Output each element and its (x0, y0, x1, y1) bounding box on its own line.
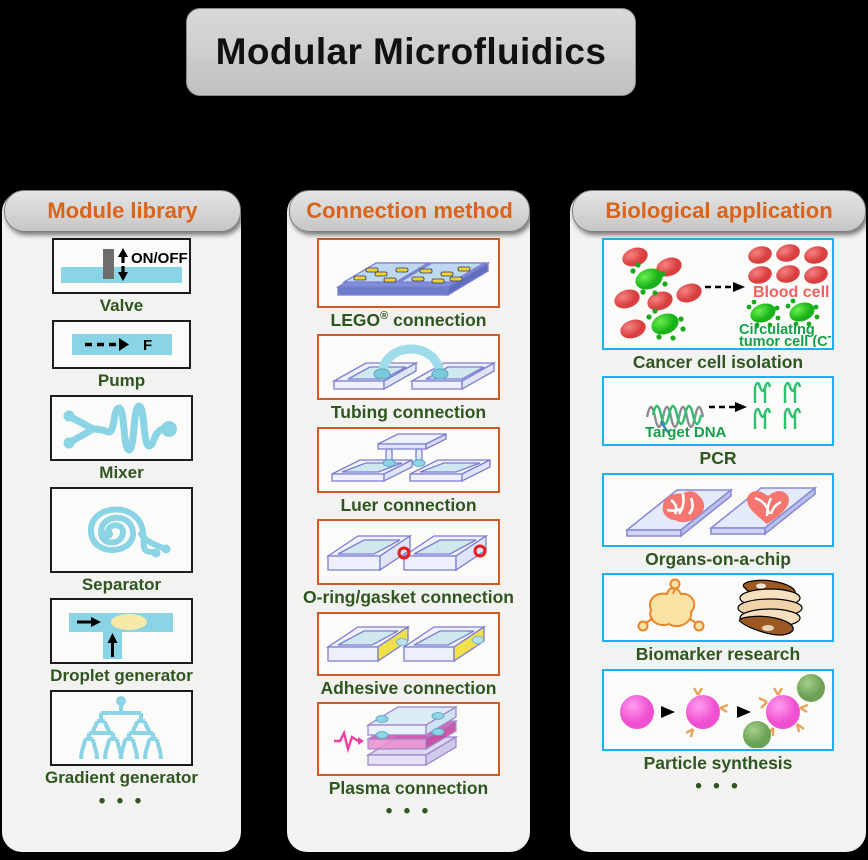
module-label-valve: Valve (100, 297, 144, 315)
bio-label-biomarker-research: Biomarker research (636, 645, 800, 663)
connection-method-ellipsis: • • • (386, 801, 432, 823)
bio-item-particle-synthesis[interactable]: Particle synthesis (570, 669, 866, 777)
biological-application-ellipsis: • • • (695, 776, 741, 798)
oring-gasket-connection-icon (317, 519, 500, 585)
module-library-ellipsis: • • • (99, 791, 145, 813)
module-item-gradient-generator[interactable]: Gradient generator (2, 690, 241, 792)
luer-connection-icon (317, 427, 500, 493)
ctc-label-line2: tumor cell (CTC) (739, 334, 831, 347)
column-header-label: Module library (47, 198, 197, 224)
adhesive-connection-icon (317, 612, 500, 676)
pump-icon: F (52, 320, 191, 369)
module-item-separator[interactable]: Separator (2, 487, 241, 599)
module-label-droplet-generator: Droplet generator (50, 667, 193, 685)
cancer-cell-isolation-icon: Blood cell (602, 238, 834, 350)
lego-label-main: LEGO (331, 310, 381, 330)
mixer-icon (50, 395, 193, 461)
column-header-biological-application: Biological application (572, 190, 866, 232)
droplet-generator-icon (50, 598, 193, 664)
bio-item-organs-on-chip[interactable]: Organs-on-a-chip (570, 473, 866, 573)
valve-icon: ON/OFF (52, 238, 191, 294)
gradient-generator-icon (50, 690, 193, 766)
module-item-pump[interactable]: F Pump (2, 320, 241, 395)
page-title-pill: Modular Microfluidics (186, 8, 636, 96)
column-connection-method: Connection method (287, 192, 530, 852)
connection-item-oring[interactable]: O-ring/gasket connection (287, 519, 530, 611)
connection-item-plasma[interactable]: Plasma connection (287, 702, 530, 802)
module-item-valve[interactable]: ON/OFF Valve (2, 238, 241, 320)
column-header-label: Biological application (605, 198, 832, 224)
connection-item-lego[interactable]: LEGO® connection (287, 238, 530, 334)
connection-label-lego: LEGO® connection (331, 311, 487, 329)
biomarker-research-icon (602, 573, 834, 642)
connection-label-oring: O-ring/gasket connection (303, 588, 514, 606)
organs-on-chip-icon (602, 473, 834, 547)
column-header-connection-method: Connection method (289, 190, 530, 232)
bio-item-cancer-cell-isolation[interactable]: Blood cell (570, 238, 866, 376)
connection-label-luer: Luer connection (340, 496, 476, 514)
bio-label-pcr: PCR (700, 449, 737, 467)
lego-label-rest: connection (388, 310, 486, 330)
page-title: Modular Microfluidics (216, 31, 607, 73)
bio-label-organs-on-chip: Organs-on-a-chip (645, 550, 791, 568)
column-biological-application: Biological application (570, 192, 866, 852)
column-header-label: Connection method (306, 198, 513, 224)
column-module-library: Module library ON/OFF Valve (2, 192, 241, 852)
module-label-gradient-generator: Gradient generator (45, 769, 198, 787)
module-label-separator: Separator (82, 576, 161, 594)
module-label-mixer: Mixer (99, 464, 143, 482)
bio-item-pcr[interactable]: Target DNA PCR (570, 376, 866, 472)
connection-item-luer[interactable]: Luer connection (287, 427, 530, 519)
connection-item-adhesive[interactable]: Adhesive connection (287, 612, 530, 702)
bio-label-cancer-cell-isolation: Cancer cell isolation (633, 353, 803, 371)
column-body-module-library: ON/OFF Valve F Pump (2, 238, 241, 813)
bio-item-biomarker-research[interactable]: Biomarker research (570, 573, 866, 668)
connection-label-adhesive: Adhesive connection (320, 679, 496, 697)
blood-cell-label: Blood cell (753, 284, 829, 301)
plasma-connection-icon (317, 702, 500, 776)
pcr-icon: Target DNA (602, 376, 834, 446)
tubing-connection-icon (317, 334, 500, 400)
bio-label-particle-synthesis: Particle synthesis (644, 754, 793, 772)
connection-item-tubing[interactable]: Tubing connection (287, 334, 530, 426)
module-item-mixer[interactable]: Mixer (2, 395, 241, 487)
column-body-connection-method: LEGO® connection (287, 238, 530, 823)
connection-label-plasma: Plasma connection (329, 779, 489, 797)
separator-icon (50, 487, 193, 573)
lego-connection-icon (317, 238, 500, 308)
valve-onoff-label: ON/OFF (131, 250, 188, 267)
module-item-droplet-generator[interactable]: Droplet generator (2, 598, 241, 690)
column-body-biological-application: Blood cell (570, 238, 866, 798)
column-header-module-library: Module library (4, 190, 241, 232)
target-dna-label: Target DNA (645, 424, 727, 441)
connection-label-tubing: Tubing connection (331, 403, 486, 421)
pump-force-label: F (143, 337, 152, 354)
particle-synthesis-icon (602, 669, 834, 751)
module-label-pump: Pump (98, 372, 145, 390)
